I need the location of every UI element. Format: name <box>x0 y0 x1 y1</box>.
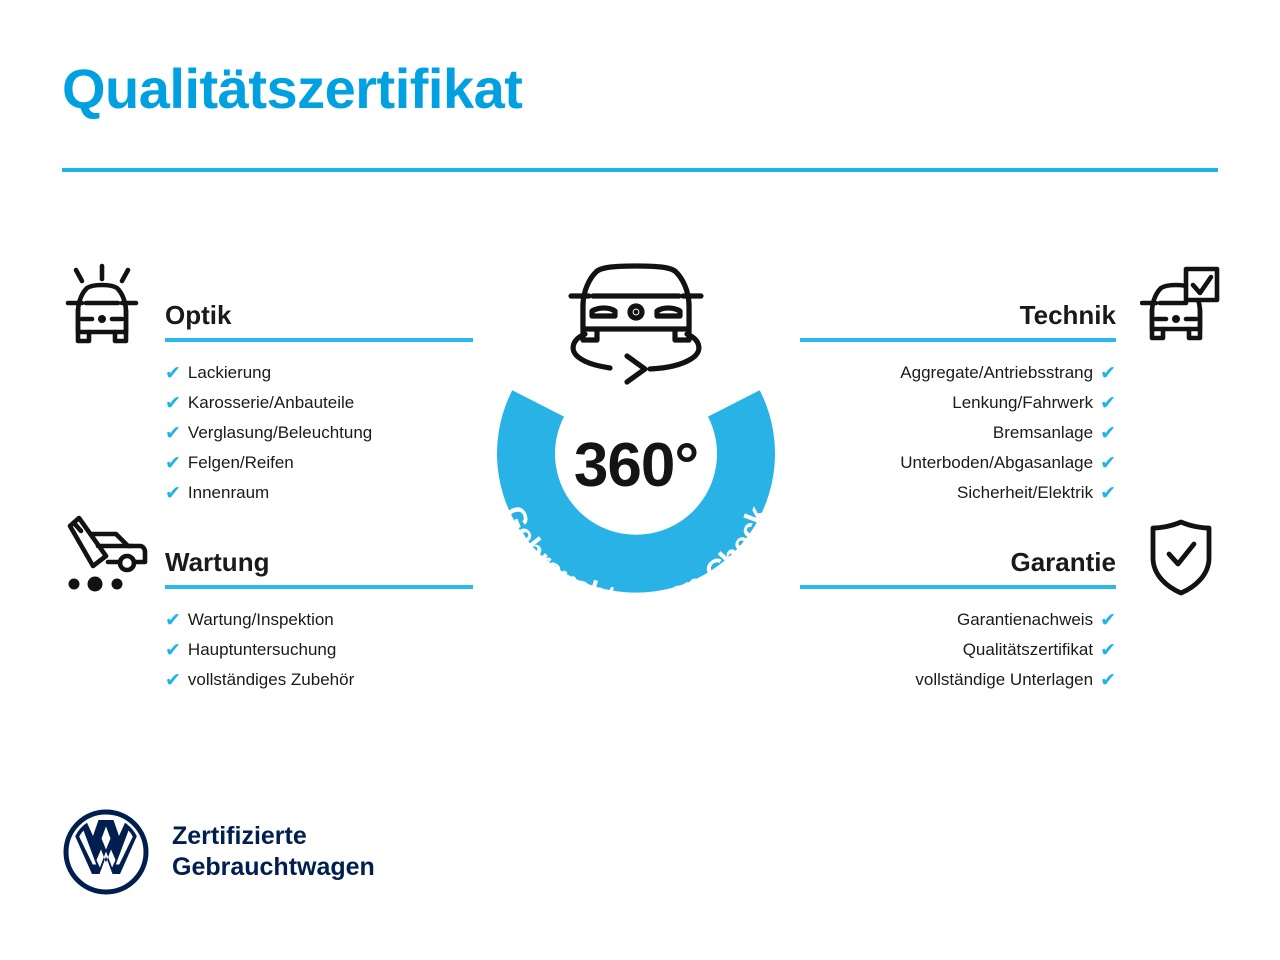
header-divider <box>62 168 1218 172</box>
list-item: ✔Lackierung <box>165 358 473 388</box>
list-item-label: Bremsanlage <box>993 418 1093 448</box>
service-log-pencil-car-icon <box>62 512 148 594</box>
list-item: ✔vollständiges Zubehör <box>165 665 473 695</box>
list-item: Unterboden/Abgasanlage✔ <box>800 448 1116 478</box>
section-header: Wartung <box>165 545 473 591</box>
list-item-label: Innenraum <box>188 478 269 508</box>
check-icon: ✔ <box>165 454 181 473</box>
check-icon: ✔ <box>165 484 181 503</box>
section-title-garantie: Garantie <box>800 545 1116 579</box>
list-item-label: Verglasung/Beleuchtung <box>188 418 372 448</box>
check-icon: ✔ <box>1100 611 1116 630</box>
check-icon: ✔ <box>165 424 181 443</box>
section-header: Optik <box>165 298 473 344</box>
list-item: Sicherheit/Elektrik✔ <box>800 478 1116 508</box>
footer-line-2: Gebrauchtwagen <box>172 852 375 883</box>
list-item-label: Lackierung <box>188 358 271 388</box>
section-wartung: Wartung ✔Wartung/Inspektion ✔Hauptunters… <box>165 545 473 695</box>
list-item: ✔Wartung/Inspektion <box>165 605 473 635</box>
badge-360-gebrauchtwagen-check: Gebrauchtwagen-Check 360° <box>455 250 817 632</box>
badge-center-text: 360° <box>455 435 817 497</box>
list-item-label: Wartung/Inspektion <box>188 605 334 635</box>
checklist-wartung: ✔Wartung/Inspektion ✔Hauptuntersuchung ✔… <box>165 605 473 695</box>
list-item-label: Hauptuntersuchung <box>188 635 336 665</box>
check-icon: ✔ <box>1100 671 1116 690</box>
vw-logo-icon <box>62 808 150 896</box>
list-item: vollständige Unterlagen✔ <box>800 665 1116 695</box>
car-checkbox-icon <box>1140 266 1220 344</box>
section-divider <box>165 338 473 342</box>
check-icon: ✔ <box>1100 424 1116 443</box>
footer-line-1: Zertifizierte <box>172 821 375 852</box>
check-icon: ✔ <box>1100 394 1116 413</box>
page-title: Qualitätszertifikat <box>62 58 522 120</box>
section-divider <box>800 585 1116 589</box>
list-item-label: Lenkung/Fahrwerk <box>952 388 1093 418</box>
list-item: ✔Verglasung/Beleuchtung <box>165 418 473 448</box>
shield-check-icon <box>1148 518 1214 596</box>
list-item-label: Sicherheit/Elektrik <box>957 478 1093 508</box>
check-icon: ✔ <box>1100 454 1116 473</box>
list-item: ✔Hauptuntersuchung <box>165 635 473 665</box>
check-icon: ✔ <box>165 394 181 413</box>
check-icon: ✔ <box>165 641 181 660</box>
list-item-label: Garantienachweis <box>957 605 1093 635</box>
check-icon: ✔ <box>1100 364 1116 383</box>
footer-logo-block: Zertifizierte Gebrauchtwagen <box>62 808 375 896</box>
check-icon: ✔ <box>165 671 181 690</box>
list-item-label: Karosserie/Anbauteile <box>188 388 354 418</box>
footer-text: Zertifizierte Gebrauchtwagen <box>172 821 375 884</box>
list-item-label: Qualitätszertifikat <box>963 635 1093 665</box>
checklist-garantie: Garantienachweis✔ Qualitätszertifikat✔ v… <box>800 605 1116 695</box>
check-icon: ✔ <box>1100 484 1116 503</box>
check-icon: ✔ <box>165 364 181 383</box>
checklist-optik: ✔Lackierung ✔Karosserie/Anbauteile ✔Verg… <box>165 358 473 508</box>
list-item: ✔Innenraum <box>165 478 473 508</box>
checklist-technik: Aggregate/Antriebsstrang✔ Lenkung/Fahrwe… <box>800 358 1116 508</box>
section-header: Technik <box>800 298 1116 344</box>
car-shine-icon <box>62 262 142 347</box>
list-item: ✔Karosserie/Anbauteile <box>165 388 473 418</box>
section-technik: Technik Aggregate/Antriebsstrang✔ Lenkun… <box>800 298 1116 508</box>
section-title-wartung: Wartung <box>165 545 473 579</box>
list-item: Lenkung/Fahrwerk✔ <box>800 388 1116 418</box>
section-title-technik: Technik <box>800 298 1116 332</box>
section-divider <box>800 338 1116 342</box>
section-divider <box>165 585 473 589</box>
list-item-label: Felgen/Reifen <box>188 448 294 478</box>
list-item-label: Aggregate/Antriebsstrang <box>900 358 1093 388</box>
list-item: Qualitätszertifikat✔ <box>800 635 1116 665</box>
check-icon: ✔ <box>1100 641 1116 660</box>
list-item: ✔Felgen/Reifen <box>165 448 473 478</box>
car-rotate-360-icon <box>571 266 701 382</box>
section-header: Garantie <box>800 545 1116 591</box>
list-item: Bremsanlage✔ <box>800 418 1116 448</box>
section-title-optik: Optik <box>165 298 473 332</box>
section-optik: Optik ✔Lackierung ✔Karosserie/Anbauteile… <box>165 298 473 508</box>
check-icon: ✔ <box>165 611 181 630</box>
list-item-label: vollständiges Zubehör <box>188 665 354 695</box>
certificate-page: Qualitätszertifikat <box>0 0 1280 960</box>
list-item: Garantienachweis✔ <box>800 605 1116 635</box>
section-garantie: Garantie Garantienachweis✔ Qualitätszert… <box>800 545 1116 695</box>
list-item-label: Unterboden/Abgasanlage <box>900 448 1093 478</box>
list-item: Aggregate/Antriebsstrang✔ <box>800 358 1116 388</box>
list-item-label: vollständige Unterlagen <box>915 665 1093 695</box>
